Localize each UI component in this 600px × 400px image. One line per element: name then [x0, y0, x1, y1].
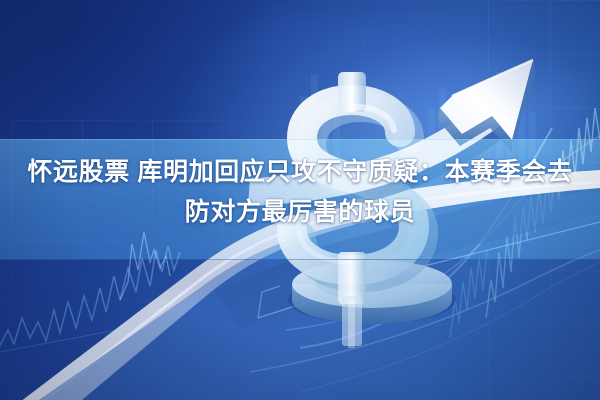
banner-image: 怀远股票 库明加回应只攻不守质疑：本赛季会去 防对方最厉害的球员 [0, 0, 600, 400]
headline-line-1: 怀远股票 库明加回应只攻不守质疑：本赛季会去 [0, 152, 600, 192]
headline-text: 怀远股票 库明加回应只攻不守质疑：本赛季会去 防对方最厉害的球员 [0, 152, 600, 232]
headline-line-2: 防对方最厉害的球员 [0, 192, 600, 232]
